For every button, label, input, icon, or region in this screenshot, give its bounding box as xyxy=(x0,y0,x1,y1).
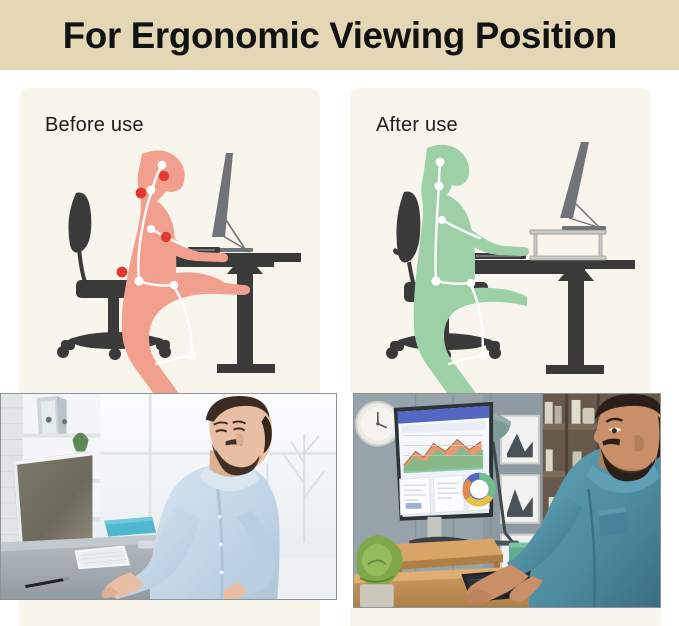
illustration-before-use xyxy=(19,140,320,393)
panel-before-use: Before use xyxy=(19,88,320,393)
wall-clock xyxy=(356,402,400,446)
panel-label-before: Before use xyxy=(45,114,144,137)
panel-footer-after xyxy=(350,608,661,626)
photo-gap xyxy=(337,393,353,608)
photo-after-use xyxy=(353,393,661,608)
panel-label-after: After use xyxy=(376,114,458,137)
photo-before-use xyxy=(0,393,337,600)
panel-after-use: After use xyxy=(350,88,651,393)
panel-footer-before xyxy=(19,600,320,626)
header-banner: For Ergonomic Viewing Position xyxy=(0,0,679,70)
page-title: For Ergonomic Viewing Position xyxy=(62,17,616,54)
illustration-after-use xyxy=(350,140,651,393)
